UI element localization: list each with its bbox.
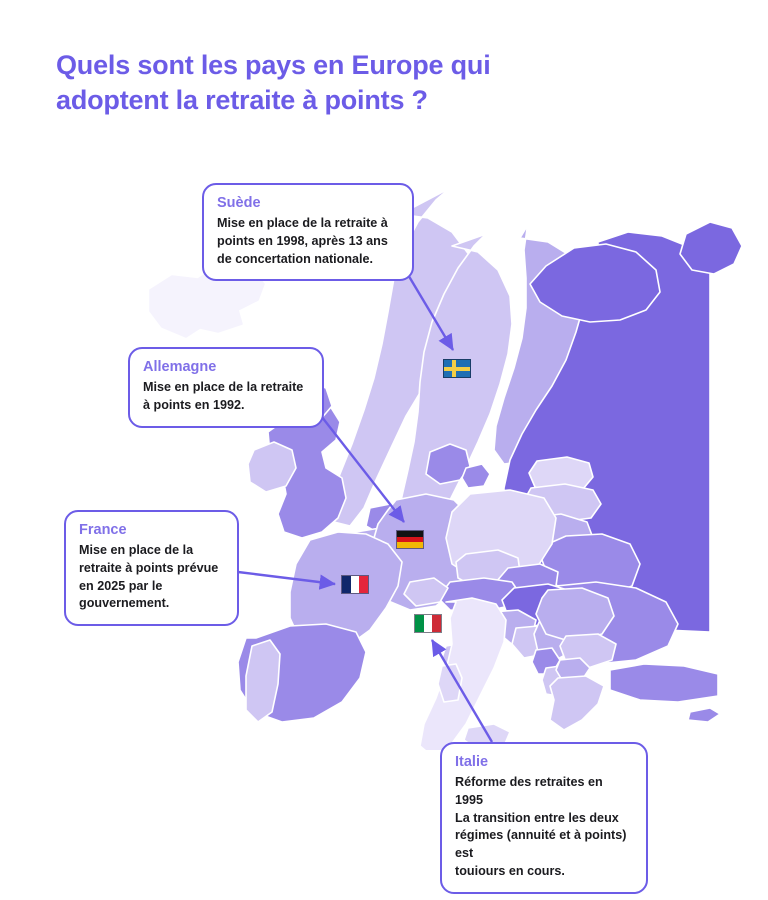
callout-italie-country: Italie xyxy=(455,753,633,772)
france-line-4: gouvernement. xyxy=(79,596,169,610)
callout-suede-body: Mise en place de la retraite à points en… xyxy=(217,215,399,269)
callout-suede[interactable]: Suède Mise en place de la retraite à poi… xyxy=(202,183,414,281)
page-title-line-1: Quels sont les pays en Europe qui xyxy=(56,48,576,83)
allemagne-line-1: Mise en place de la retraite xyxy=(143,380,303,394)
country-cyprus xyxy=(688,708,720,722)
france-line-2: retraite à points prévue xyxy=(79,561,218,575)
callout-suede-country: Suède xyxy=(217,194,399,213)
callout-allemagne-country: Allemagne xyxy=(143,358,309,377)
france-line-3-post: par le xyxy=(125,579,162,593)
suede-line-2-post: ans xyxy=(363,234,388,248)
infographic-canvas: Quels sont les pays en Europe qui adopte… xyxy=(0,0,768,900)
country-greece xyxy=(550,676,604,730)
callout-france-body: Mise en place de la retraite à points pr… xyxy=(79,542,224,614)
suede-line-3: de concertation nationale. xyxy=(217,252,373,266)
france-line-3-pre: en xyxy=(79,579,97,593)
callout-allemagne-body: Mise en place de la retraite à points en… xyxy=(143,379,309,415)
suede-line-2-mid: , après xyxy=(305,234,349,248)
allemagne-line-2-pre: à points en xyxy=(143,398,213,412)
france-line-1: Mise en place de la xyxy=(79,543,193,557)
flag-germany-icon xyxy=(396,530,424,549)
callout-italie-body: Réforme des retraites en 1995 La transit… xyxy=(455,774,633,881)
france-year: 2025 xyxy=(97,579,125,593)
italie-line-3: régimes (annuité et à points) est xyxy=(455,828,626,860)
flag-italy-icon xyxy=(414,614,442,633)
callout-france[interactable]: France Mise en place de la retraite à po… xyxy=(64,510,239,626)
page-title-line-2: adoptent la retraite à points ? xyxy=(56,83,576,118)
italie-year: 1995 xyxy=(455,793,483,807)
country-turkey xyxy=(610,664,718,702)
callout-france-country: France xyxy=(79,521,224,540)
flag-sweden-icon xyxy=(443,359,471,378)
italie-line-4: touiours en cours. xyxy=(455,864,565,878)
flag-france-icon xyxy=(341,575,369,594)
allemagne-year: 1992 xyxy=(213,398,241,412)
suede-line-2-pre: points en xyxy=(217,234,276,248)
country-russia-kola xyxy=(680,222,742,274)
suede-year: 1998 xyxy=(276,234,304,248)
page-title: Quels sont les pays en Europe qui adopte… xyxy=(56,48,576,117)
country-sardinia xyxy=(438,664,462,702)
suede-line-1: Mise en place de la retraite à xyxy=(217,216,388,230)
italie-line-1-pre: Réforme des retraites en xyxy=(455,775,603,789)
callout-italie[interactable]: Italie Réforme des retraites en 1995 La … xyxy=(440,742,648,894)
country-romania xyxy=(536,588,614,642)
italie-line-2: La transition entre les deux xyxy=(455,811,619,825)
suede-years-count: 13 xyxy=(349,234,363,248)
country-denmark-isl xyxy=(462,464,490,488)
callout-allemagne[interactable]: Allemagne Mise en place de la retraite à… xyxy=(128,347,324,428)
allemagne-line-2-post: . xyxy=(241,398,245,412)
